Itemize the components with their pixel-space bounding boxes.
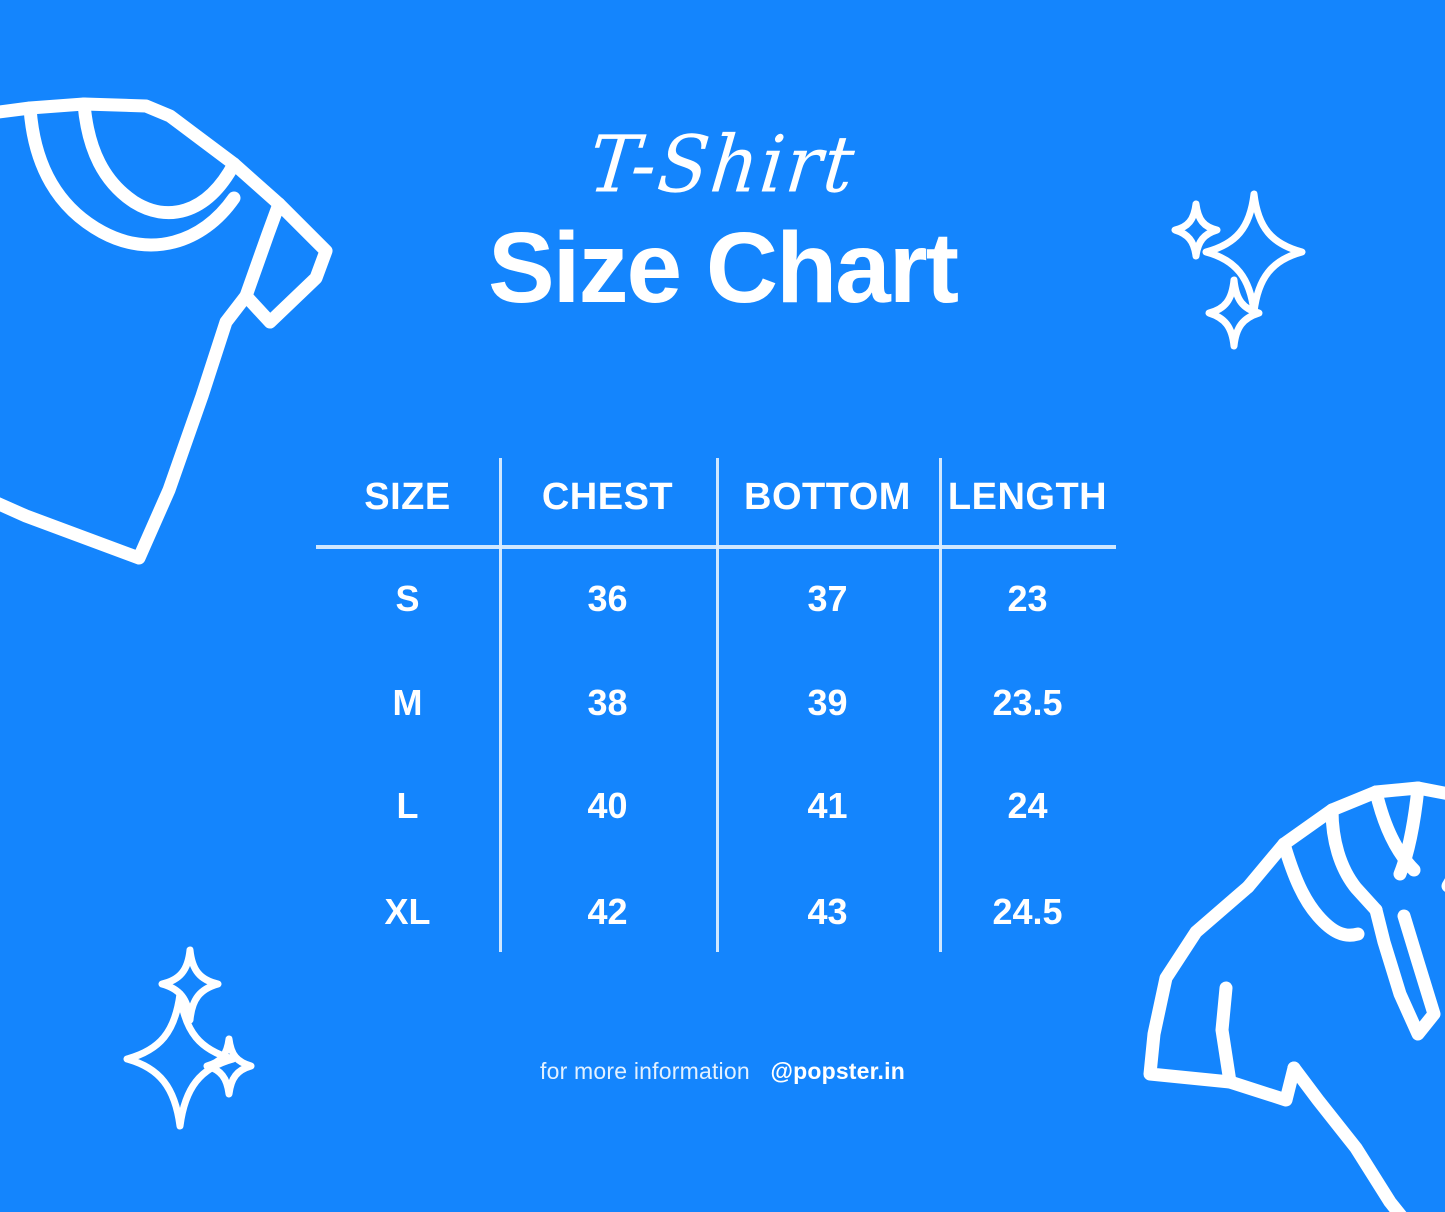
column-header-length: LENGTH [939,476,1116,519]
cell-size: XL [316,891,499,933]
table-row: XL 42 43 24.5 [316,891,1116,933]
cell-length: 24 [939,785,1116,827]
header-divider [316,545,1116,549]
table-header-row: SIZE CHEST BOTTOM LENGTH [316,476,1116,519]
cell-bottom: 41 [716,785,939,827]
column-header-bottom: BOTTOM [716,476,939,519]
cell-chest: 36 [499,578,716,620]
cell-size: S [316,578,499,620]
cell-size: L [316,785,499,827]
footer: for more information @popster.in [0,1058,1445,1085]
cell-chest: 40 [499,785,716,827]
column-header-size: SIZE [316,476,499,519]
footer-note: for more information [540,1058,750,1084]
script-title: T-Shirt [0,126,1445,204]
cell-size: M [316,682,499,724]
cell-bottom: 37 [716,578,939,620]
size-chart-poster: T-Shirt Size Chart SIZE CHEST BOTTOM LEN… [0,0,1445,1212]
table-row: M 38 39 23.5 [316,682,1116,724]
size-chart-table: SIZE CHEST BOTTOM LENGTH S 36 37 23 M 38… [316,458,1116,954]
cell-bottom: 39 [716,682,939,724]
cell-length: 23.5 [939,682,1116,724]
column-header-chest: CHEST [499,476,716,519]
table-row: S 36 37 23 [316,578,1116,620]
cell-bottom: 43 [716,891,939,933]
cell-length: 24.5 [939,891,1116,933]
sparkle-cluster-icon [128,946,303,1121]
table-row: L 40 41 24 [316,785,1116,827]
cell-chest: 38 [499,682,716,724]
footer-handle[interactable]: @popster.in [770,1058,905,1084]
cell-chest: 42 [499,891,716,933]
main-title: Size Chart [0,216,1445,320]
cell-length: 23 [939,578,1116,620]
polo-shirt-illustration [1118,782,1445,1212]
page-title: T-Shirt Size Chart [0,128,1445,320]
